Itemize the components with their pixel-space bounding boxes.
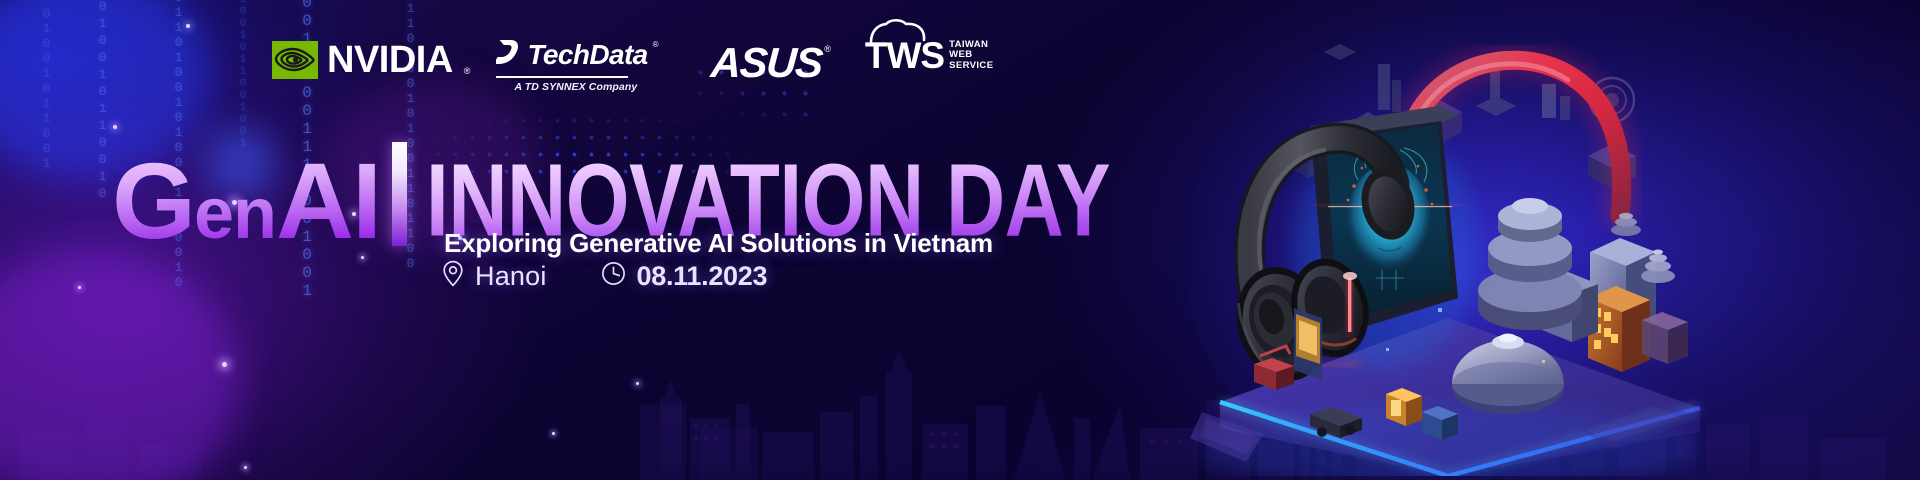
techdata-tagline: A TD SYNNEX Company [514, 81, 637, 93]
techdata-registered-mark: ® [653, 40, 659, 49]
nvidia-wordmark: NVIDIA [327, 41, 453, 79]
techdata-wordmark: TechData [527, 41, 647, 69]
tws-subtitle-lines: TAIWAN WEB SERVICE [949, 40, 993, 72]
clock-icon [601, 261, 626, 291]
sparkle [78, 286, 81, 289]
cloud-icon [869, 18, 927, 44]
sparkle [636, 382, 639, 385]
headline-genai-small: en [194, 174, 276, 254]
logo-asus[interactable]: ASUS ® [711, 42, 831, 84]
logo-tws[interactable]: TWS TAIWAN WEB SERVICE [865, 38, 994, 73]
date-text: 08.11.2023 [637, 261, 768, 292]
asus-registered-mark: ® [824, 44, 831, 54]
nvidia-registered-mark: ® [464, 66, 471, 76]
vertical-bar-divider [392, 142, 407, 246]
location-pin-icon [442, 260, 464, 292]
sparkle [186, 24, 190, 28]
sparkle [244, 466, 247, 469]
isometric-ai-city-illustration [1190, 8, 1710, 476]
techdata-d-mark-icon [496, 38, 522, 72]
binary-stream: 0010010110010 [96, 0, 109, 203]
meta-date: 08.11.2023 [601, 261, 768, 292]
techdata-divider-rule [496, 76, 628, 78]
subtitle: Exploring Generative AI Solutions in Vie… [444, 228, 993, 259]
event-banner: 0010010110010 01101001010011100010 10010… [0, 0, 1920, 480]
headline-genai-cap: G [112, 140, 194, 261]
headline-genai-tail: AI [276, 140, 380, 261]
tws-mark-block: TWS TAIWAN WEB SERVICE [865, 38, 994, 73]
logo-techdata[interactable]: TechData ® A TD SYNNEX Company [496, 38, 658, 93]
techdata-wordmark-row: TechData ® [496, 38, 658, 72]
sparkle [552, 432, 555, 435]
tws-sub-line-3: SERVICE [949, 61, 993, 72]
nvidia-eye-icon [272, 41, 318, 79]
binary-stream: 01001011001 [40, 6, 53, 171]
meta-location: Hanoi [442, 260, 547, 292]
asus-wordmark: ASUS [709, 42, 823, 84]
binary-stream: 1001011001001 [236, 0, 249, 150]
event-meta-row: Hanoi 08.11.2023 [442, 260, 767, 292]
sparkle [222, 362, 227, 367]
sparkle [113, 125, 117, 129]
headline-genai: GenAI [112, 151, 380, 250]
violet-glow-blob [0, 250, 240, 480]
partner-logo-strip: NVIDIA ® TechData ® A TD SYNNEX Company … [272, 36, 993, 98]
logo-nvidia[interactable]: NVIDIA ® [272, 41, 470, 79]
location-text: Hanoi [475, 261, 547, 292]
